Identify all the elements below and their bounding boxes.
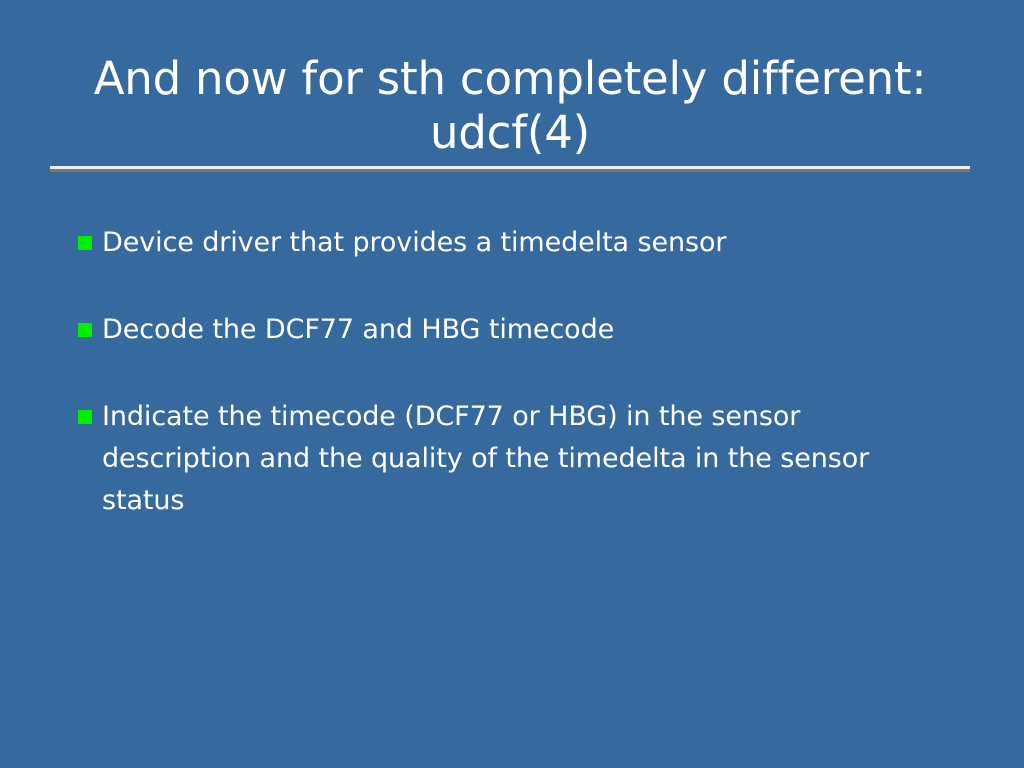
square-bullet-icon <box>78 410 92 424</box>
bullet-item-label: Device driver that provides a timedelta … <box>102 222 958 264</box>
square-bullet-icon <box>78 323 92 337</box>
divider-shadow-line <box>50 169 970 172</box>
title-divider-rule <box>50 166 970 172</box>
list-item: Indicate the timecode (DCF77 or HBG) in … <box>78 396 958 522</box>
list-item: Decode the DCF77 and HBG timecode <box>78 309 958 351</box>
slide-title-block: And now for sth completely different: ud… <box>50 52 970 160</box>
slide-body-bullet-list: Device driver that provides a timedelta … <box>78 222 958 522</box>
page-title: And now for sth completely different: ud… <box>50 52 970 160</box>
presentation-slide: And now for sth completely different: ud… <box>0 0 1024 768</box>
list-item: Device driver that provides a timedelta … <box>78 222 958 264</box>
bullet-item-label: Indicate the timecode (DCF77 or HBG) in … <box>102 396 932 522</box>
bullet-item-label: Decode the DCF77 and HBG timecode <box>102 309 958 351</box>
square-bullet-icon <box>78 236 92 250</box>
